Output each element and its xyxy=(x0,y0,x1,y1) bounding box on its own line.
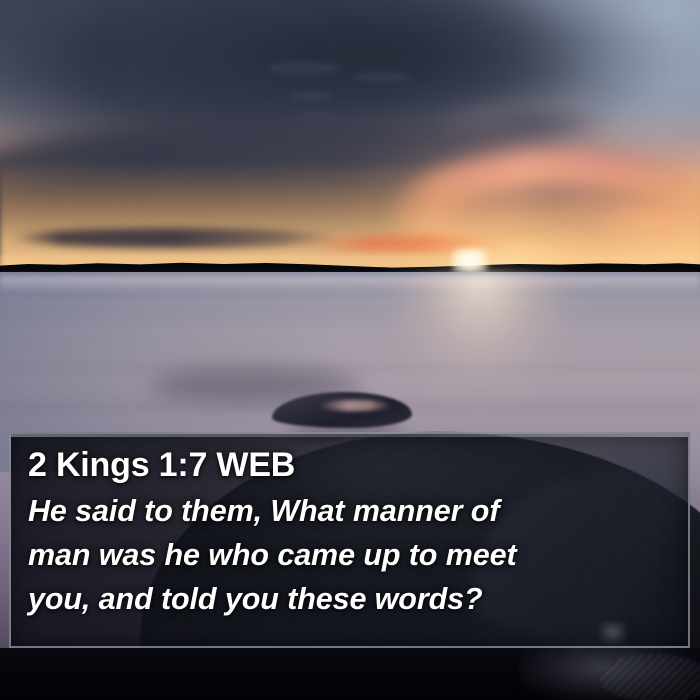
water-striation-1 xyxy=(0,300,700,305)
sky-layer xyxy=(0,0,700,272)
submerged-rock-highlight xyxy=(318,400,392,411)
treeline-haze xyxy=(0,256,700,264)
verse-text-line-3: you, and told you these words? xyxy=(28,577,672,621)
cloud-speck-a xyxy=(268,62,340,75)
cloud-speck-b xyxy=(352,72,410,82)
sun-disc xyxy=(452,248,488,274)
verse-text-line-1: He said to them, What manner of xyxy=(28,489,672,533)
cloud-speck-c xyxy=(288,92,334,101)
verse-card: 2 Kings 1:7 WEB He said to them, What ma… xyxy=(9,432,690,648)
water-striation-2 xyxy=(0,330,700,334)
verse-text-line-2: man was he who came up to meet xyxy=(28,533,672,577)
cloud-speck-d xyxy=(300,112,336,120)
low-cloud-streak xyxy=(10,228,340,248)
boulder-lower-right-texture xyxy=(600,654,700,700)
verse-reference: 2 Kings 1:7 WEB xyxy=(28,445,672,485)
water-striation-3 xyxy=(0,366,700,370)
verse-image-canvas: 2 Kings 1:7 WEB He said to them, What ma… xyxy=(0,0,700,700)
verse-text: He said to them, What manner of man was … xyxy=(28,489,672,621)
sun-glow xyxy=(358,150,658,272)
